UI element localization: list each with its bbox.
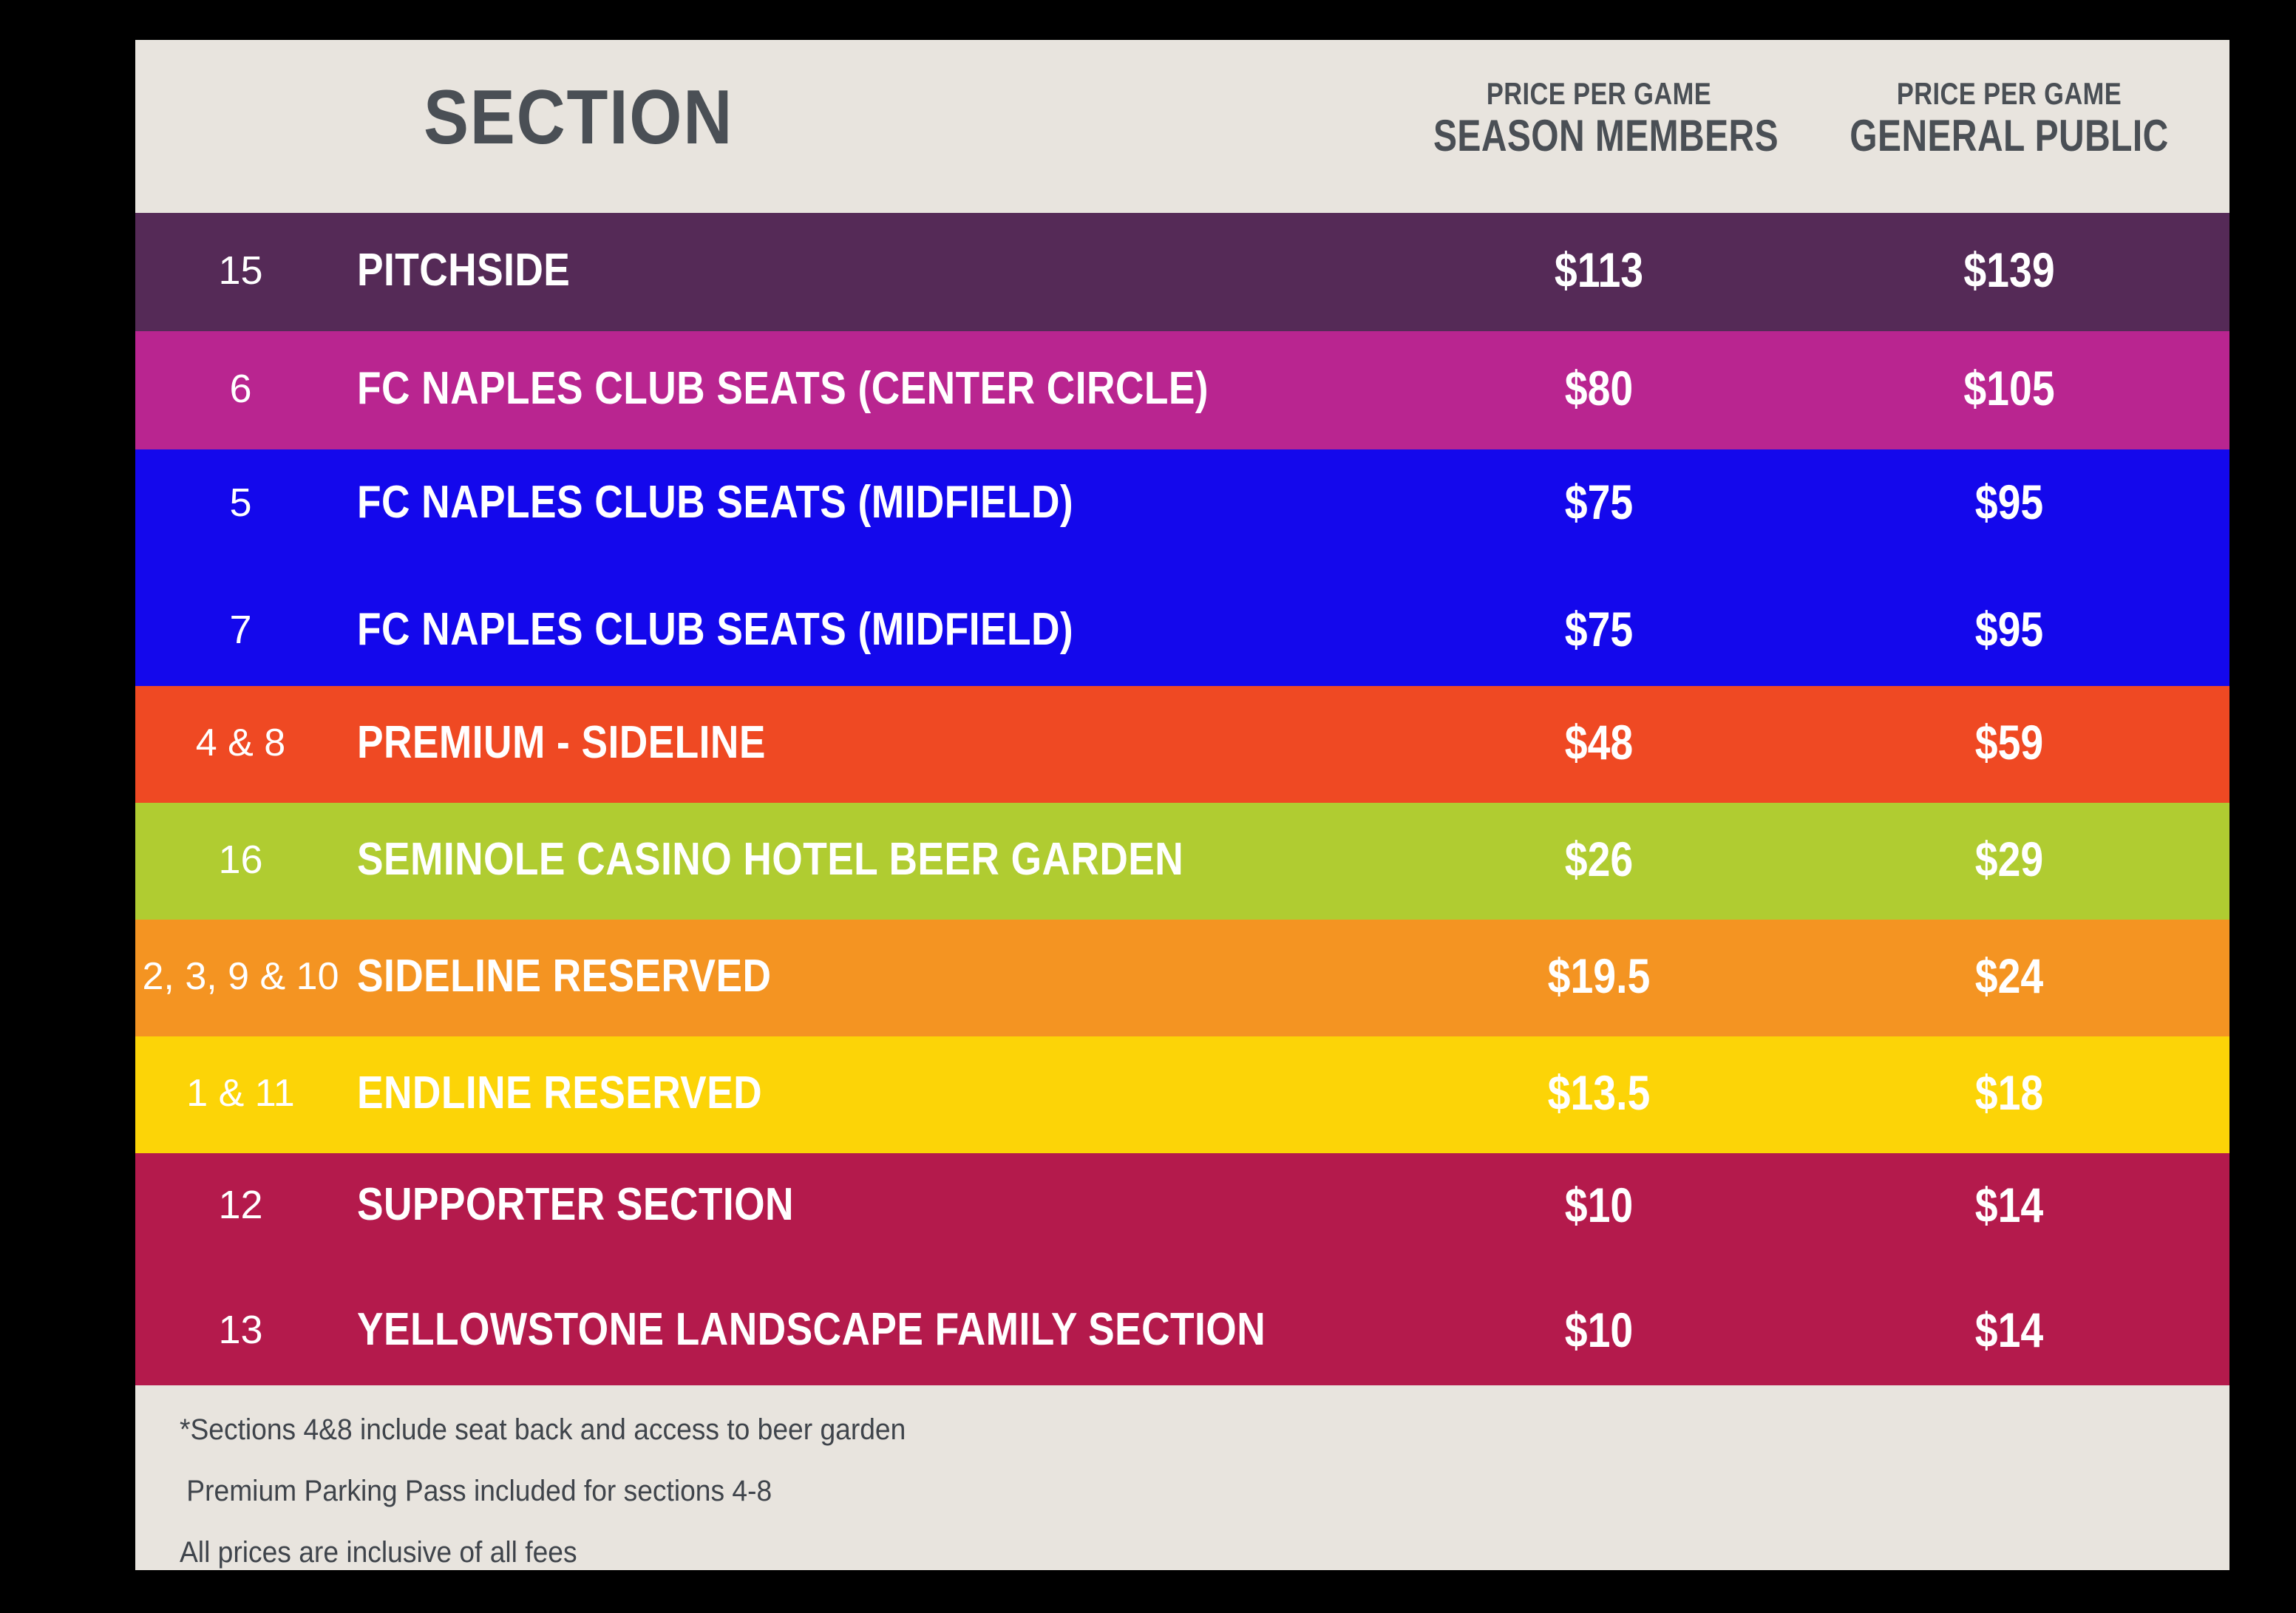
header-price-general-public: PRICE PER GAME GENERAL PUBLIC <box>1802 78 2216 158</box>
row-price-general-public: $95 <box>1835 474 2183 530</box>
row-price-season-members: $10 <box>1425 1302 1773 1358</box>
row-price-general-public: $18 <box>1835 1064 2183 1121</box>
row-section-label: ENDLINE RESERVED <box>357 1067 762 1119</box>
row-price-general-public: $95 <box>1835 601 2183 657</box>
row-price-general-public: $14 <box>1835 1302 2183 1358</box>
footnote-line: All prices are inclusive of all fees <box>180 1536 2086 1569</box>
footnote-line: *Sections 4&8 include seat back and acce… <box>180 1413 2086 1447</box>
row-section-number: 1 & 11 <box>135 1071 346 1115</box>
row-section-label: PITCHSIDE <box>357 244 570 296</box>
row-section-label: YELLOWSTONE LANDSCAPE FAMILY SECTION <box>357 1303 1266 1356</box>
table-row[interactable]: 7FC NAPLES CLUB SEATS (MIDFIELD)$75$95 <box>135 568 2229 686</box>
table-row[interactable]: 6FC NAPLES CLUB SEATS (CENTER CIRCLE)$80… <box>135 331 2229 449</box>
row-section-number: 6 <box>135 366 346 412</box>
table-row[interactable]: 13YELLOWSTONE LANDSCAPE FAMILY SECTION$1… <box>135 1269 2229 1385</box>
header-price-public-top: PRICE PER GAME <box>1839 78 2178 109</box>
row-section-label: PREMIUM - SIDELINE <box>357 716 766 769</box>
pricing-rows: 15PITCHSIDE$113$1396FC NAPLES CLUB SEATS… <box>135 213 2229 1385</box>
table-row[interactable]: 1 & 11ENDLINE RESERVED$13.5$18 <box>135 1036 2229 1153</box>
table-header: SECTION PRICE PER GAME SEASON MEMBERS PR… <box>135 40 2229 213</box>
header-price-members-top: PRICE PER GAME <box>1429 78 1768 109</box>
row-section-number: 12 <box>135 1182 346 1228</box>
row-section-number: 7 <box>135 607 346 653</box>
header-price-members-bottom: SEASON MEMBERS <box>1433 114 1765 158</box>
row-section-number: 15 <box>135 248 346 293</box>
row-section-number: 13 <box>135 1307 346 1353</box>
header-price-season-members: PRICE PER GAME SEASON MEMBERS <box>1392 78 1806 158</box>
row-price-season-members: $10 <box>1425 1177 1773 1233</box>
row-price-general-public: $24 <box>1835 948 2183 1004</box>
row-section-label: FC NAPLES CLUB SEATS (MIDFIELD) <box>357 476 1073 529</box>
footnote-line: Premium Parking Pass included for sectio… <box>180 1475 2086 1508</box>
row-price-season-members: $75 <box>1425 601 1773 657</box>
header-price-public-bottom: GENERAL PUBLIC <box>1844 114 2175 158</box>
row-section-number: 16 <box>135 837 346 883</box>
row-section-number: 4 & 8 <box>135 721 346 765</box>
row-price-season-members: $80 <box>1425 360 1773 416</box>
header-section-title: SECTION <box>424 74 733 162</box>
row-price-season-members: $13.5 <box>1425 1064 1773 1121</box>
row-price-season-members: $75 <box>1425 474 1773 530</box>
row-price-general-public: $139 <box>1835 242 2183 298</box>
row-section-number: 2, 3, 9 & 10 <box>135 954 346 999</box>
row-section-label: SEMINOLE CASINO HOTEL BEER GARDEN <box>357 833 1183 886</box>
row-price-season-members: $19.5 <box>1425 948 1773 1004</box>
row-section-label: FC NAPLES CLUB SEATS (MIDFIELD) <box>357 603 1073 656</box>
row-section-label: SIDELINE RESERVED <box>357 950 771 1002</box>
row-price-season-members: $26 <box>1425 831 1773 887</box>
row-section-label: FC NAPLES CLUB SEATS (CENTER CIRCLE) <box>357 362 1209 415</box>
row-price-general-public: $59 <box>1835 714 2183 770</box>
row-price-general-public: $14 <box>1835 1177 2183 1233</box>
table-row[interactable]: 16SEMINOLE CASINO HOTEL BEER GARDEN$26$2… <box>135 803 2229 920</box>
row-price-season-members: $113 <box>1425 242 1773 298</box>
table-row[interactable]: 15PITCHSIDE$113$139 <box>135 213 2229 331</box>
row-section-number: 5 <box>135 480 346 526</box>
row-price-general-public: $105 <box>1835 360 2183 416</box>
row-price-season-members: $48 <box>1425 714 1773 770</box>
table-row[interactable]: 12SUPPORTER SECTION$10$14 <box>135 1153 2229 1269</box>
row-price-general-public: $29 <box>1835 831 2183 887</box>
pricing-table-card: SECTION PRICE PER GAME SEASON MEMBERS PR… <box>135 40 2229 1570</box>
table-footnotes: *Sections 4&8 include seat back and acce… <box>135 1385 2229 1569</box>
table-row[interactable]: 5FC NAPLES CLUB SEATS (MIDFIELD)$75$95 <box>135 449 2229 568</box>
screenshot-root: SECTION PRICE PER GAME SEASON MEMBERS PR… <box>0 0 2296 1613</box>
table-row[interactable]: 4 & 8PREMIUM - SIDELINE$48$59 <box>135 686 2229 803</box>
table-row[interactable]: 2, 3, 9 & 10SIDELINE RESERVED$19.5$24 <box>135 920 2229 1036</box>
row-section-label: SUPPORTER SECTION <box>357 1178 794 1231</box>
